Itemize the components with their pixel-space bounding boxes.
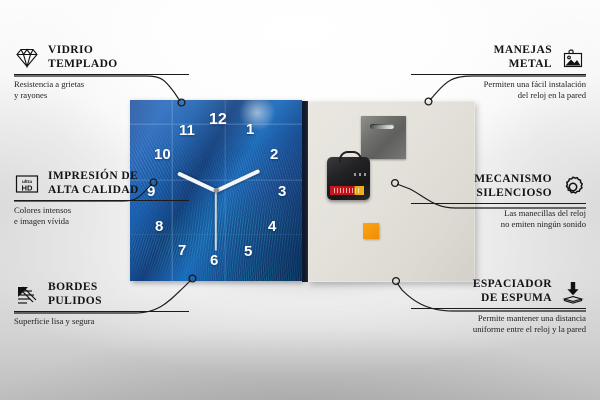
silent-clock-mechanism [327,157,370,200]
callout-bordes-pulidos: BORDES PULIDOS Superficie lisa y segura [14,281,189,327]
clock-numeral: 6 [210,253,218,268]
callout-divider [411,74,586,75]
callout-header: VIDRIO TEMPLADO [14,44,189,71]
callout-divider [14,200,189,201]
callout-divider [14,74,189,75]
clock-numeral: 1 [246,122,254,137]
callout-divider [411,203,586,204]
diamond-icon [14,45,40,71]
metal-hanger-plate [361,116,406,159]
callout-header: ESPACIADOR DE ESPUMA [411,278,586,305]
callout-title: MECANISMO SILENCIOSO [474,173,552,200]
callout-header: MECANISMO SILENCIOSO [411,173,586,200]
callout-description: Colores intensos e imagen vívida [14,205,189,226]
second-hand [215,191,217,251]
callout-header: ultra HD IMPRESIÓN DE ALTA CALIDAD [14,170,189,197]
clock-numeral: 10 [154,147,171,162]
clock-numeral: 4 [268,219,276,234]
callout-title: VIDRIO TEMPLADO [48,44,118,71]
callout-description: Permite mantener una distancia uniforme … [411,313,586,334]
callout-espaciador-de-espuma: ESPACIADOR DE ESPUMA Permite mantener un… [411,278,586,334]
clock-numeral: 11 [179,123,195,138]
clock-hub [214,188,219,193]
callout-mecanismo-silencioso: MECANISMO SILENCIOSO Las manecillas del … [411,173,586,229]
callout-divider [411,308,586,309]
callout-vidrio-templado: VIDRIO TEMPLADO Resistencia a grietas y … [14,44,189,100]
callout-manejas-metal: MANEJAS METAL Permiten una fácil instala… [411,44,586,100]
foam-spacer-arrow-icon [560,279,586,305]
polished-edges-icon [14,282,40,308]
svg-text:HD: HD [22,183,33,192]
clock-numeral: 12 [209,112,227,128]
callout-title: IMPRESIÓN DE ALTA CALIDAD [48,170,139,197]
callout-title: BORDES PULIDOS [48,281,102,308]
callout-title: MANEJAS METAL [494,44,552,71]
callout-divider [14,311,189,312]
clock-numeral: 3 [278,184,286,199]
callout-description: Las manecillas del reloj no emiten ningú… [411,208,586,229]
callout-impresion-alta-calidad: ultra HD IMPRESIÓN DE ALTA CALIDAD Color… [14,170,189,226]
callout-description: Superficie lisa y segura [14,316,189,327]
picture-frame-hanger-icon [560,45,586,71]
infographic-canvas: 12 1 2 3 4 5 6 7 8 9 10 11 [0,0,600,400]
clock-numeral: 7 [178,243,186,258]
clock-numeral: 5 [244,244,252,259]
callout-header: BORDES PULIDOS [14,281,189,308]
mechanism-label [330,186,364,195]
callout-description: Permiten una fácil instalación del reloj… [411,79,586,100]
callout-title: ESPACIADOR DE ESPUMA [473,278,552,305]
hanger-loop [339,151,362,162]
callout-header: MANEJAS METAL [411,44,586,71]
gear-icon [560,174,586,200]
ultra-hd-icon: ultra HD [14,171,40,197]
clock-numeral: 2 [270,147,278,162]
foam-spacer [363,223,379,239]
callout-description: Resistencia a grietas y rayones [14,79,189,100]
mechanism-markings [354,173,366,176]
